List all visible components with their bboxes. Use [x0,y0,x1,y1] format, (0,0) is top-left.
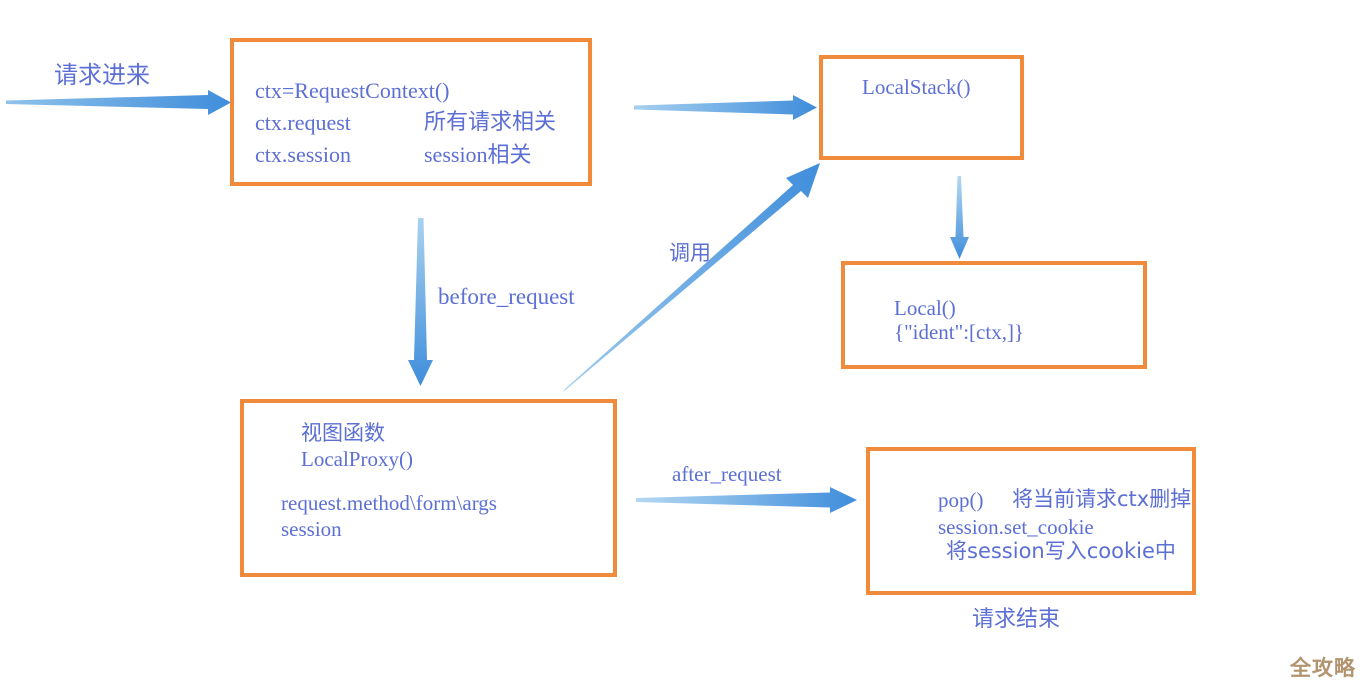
teardown-line-2: session.set_cookie [938,517,1094,538]
local-line-1: Local() [894,298,956,319]
request-context-line-2-right: 所有请求相关 [424,112,556,134]
arrow-localstack-to-local [950,176,969,259]
arrow-ctx-to-localstack [634,95,817,120]
arrow-request-in [6,90,231,115]
request-context-line-3-right: session相关 [424,144,532,166]
view-function-line-1: 视图函数 [301,423,385,444]
watermark: 全攻略 [1290,652,1356,682]
local-box[interactable] [841,261,1147,369]
arrow-call-localstack [563,163,820,392]
label-before-request: before_request [438,285,575,308]
view-function-line-2: LocalProxy() [301,449,413,470]
request-context-line-2-left: ctx.request [255,112,351,134]
label-request-in: 请求进来 [54,63,150,87]
view-function-line-4: session [281,519,342,540]
diagram-canvas: ctx=RequestContext() ctx.request 所有请求相关 … [0,0,1360,684]
local-line-2: {"ident":[ctx,]} [894,322,1024,343]
request-context-line-1: ctx=RequestContext() [255,80,449,102]
view-function-box[interactable] [240,399,617,577]
teardown-line-1-right: 将当前请求ctx删掉 [1012,489,1191,510]
arrow-after-request [636,487,857,513]
request-context-line-3-left: ctx.session [255,144,351,166]
label-after-request: after_request [672,464,782,485]
teardown-line-1-left: pop() [938,490,984,511]
label-call: 调用 [669,243,711,264]
localstack-label: LocalStack() [862,77,970,98]
teardown-line-3: 将session写入cookie中 [946,541,1176,562]
label-request-end: 请求结束 [972,609,1060,631]
localstack-box[interactable] [819,55,1024,160]
arrow-before-request [408,218,433,386]
view-function-line-3: request.method\form\args [281,493,497,514]
